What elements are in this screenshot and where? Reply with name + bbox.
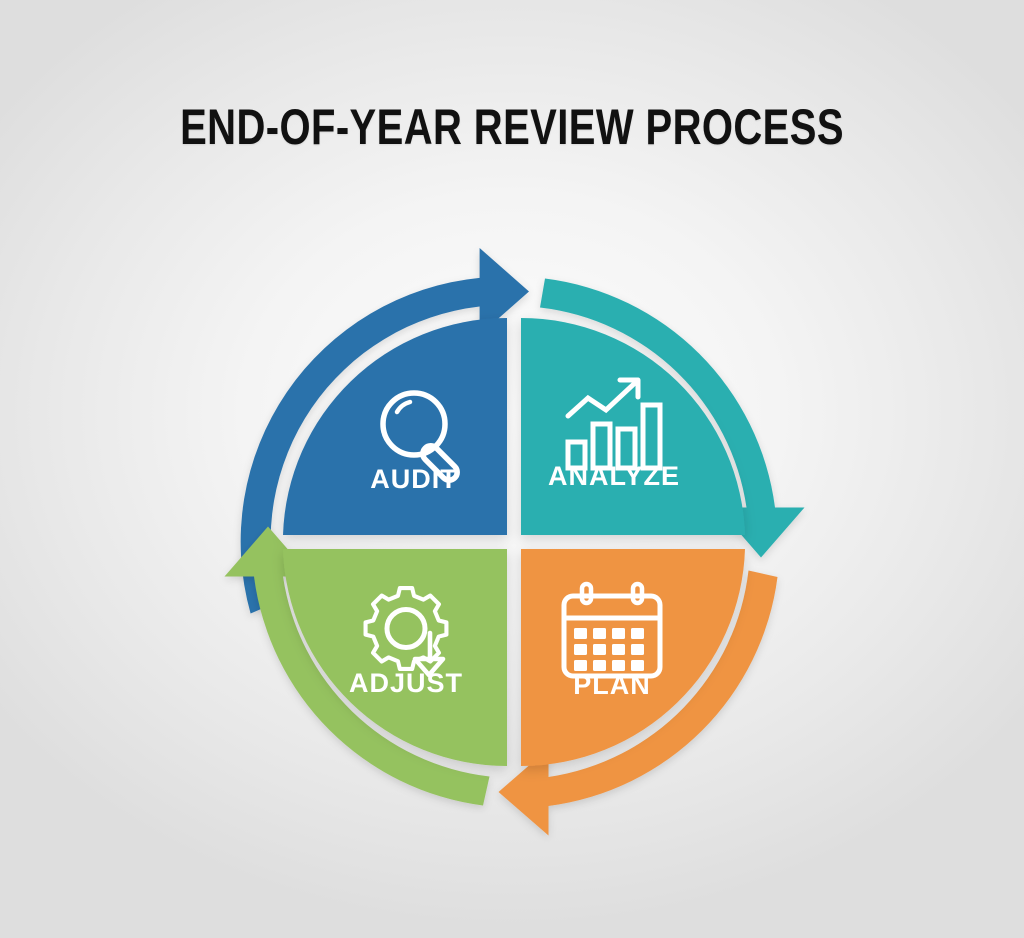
segment-label-adjust: ADJUST — [349, 668, 463, 698]
segment-audit[interactable] — [283, 318, 507, 535]
process-cycle-diagram: AUDIT ANALYZE — [0, 0, 1024, 938]
segment-label-analyze: ANALYZE — [548, 461, 680, 491]
segment-label-plan: PLAN — [573, 670, 651, 700]
segment-adjust[interactable] — [283, 549, 507, 766]
segment-label-audit: AUDIT — [370, 464, 458, 494]
segment-plan[interactable] — [521, 549, 745, 766]
infographic-canvas: END-OF-YEAR REVIEW PROCESS — [0, 0, 1024, 938]
